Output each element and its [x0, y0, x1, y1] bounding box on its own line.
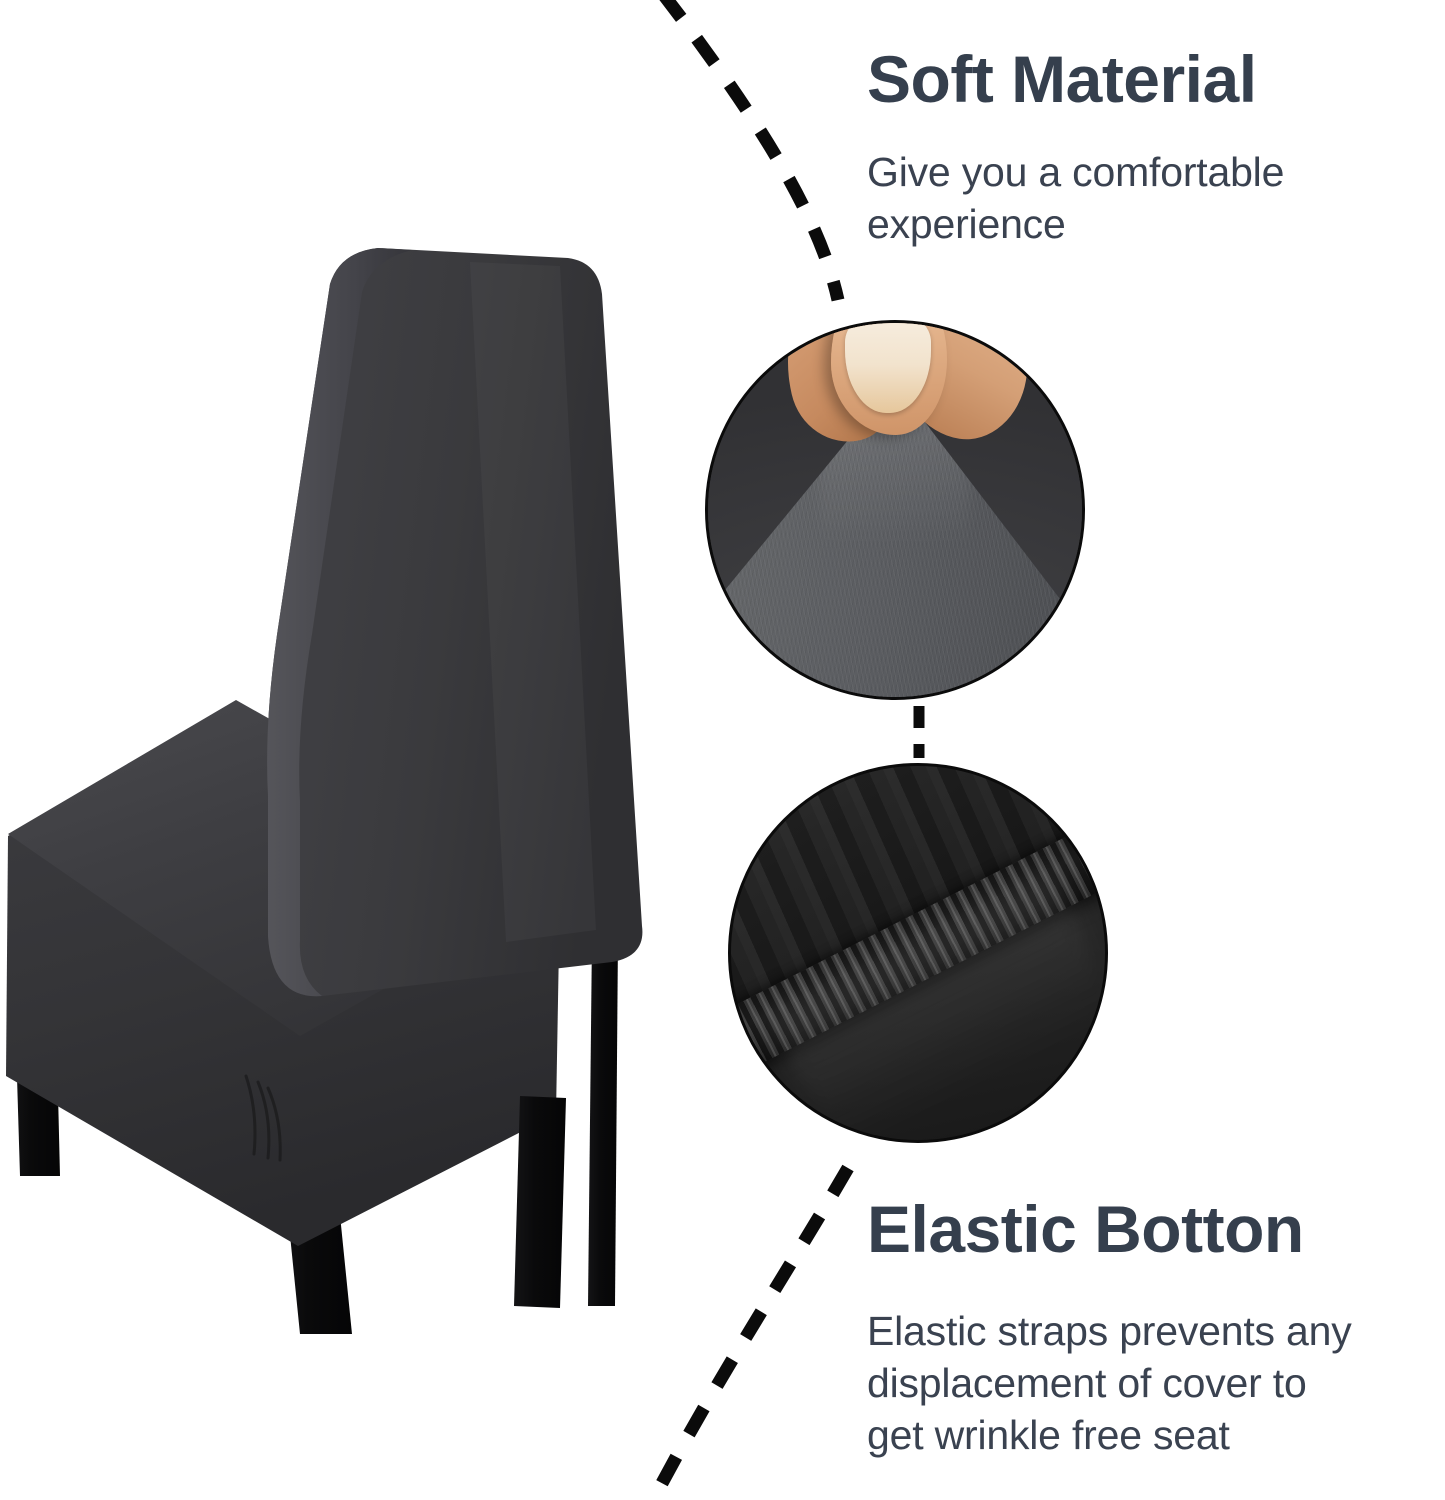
body-line: experience	[867, 198, 1284, 250]
feature-soft-material-body: Give you a comfortable experience	[867, 146, 1284, 250]
feature-elastic-bottom: Elastic Botton Elastic straps prevents a…	[867, 1196, 1352, 1461]
infographic-canvas: Soft Material Give you a comfortable exp…	[0, 0, 1445, 1500]
chair-leg-rear-right	[588, 936, 618, 1306]
body-line: displacement of cover to	[867, 1357, 1352, 1409]
body-line: Give you a comfortable	[867, 146, 1284, 198]
dashed-arc-upper	[663, 0, 838, 300]
elastic-hem-illustration	[731, 766, 1105, 1140]
feature-elastic-bottom-body: Elastic straps prevents any displacement…	[867, 1305, 1352, 1461]
dashed-arc-lower	[650, 1168, 848, 1500]
body-line: get wrinkle free seat	[867, 1409, 1352, 1461]
feature-soft-material-headline: Soft Material	[867, 46, 1284, 112]
callout-soft-material-photo	[705, 320, 1085, 700]
fabric-pinch-illustration	[708, 323, 1082, 697]
feature-elastic-bottom-headline: Elastic Botton	[867, 1196, 1352, 1262]
product-image-chair	[0, 236, 660, 1346]
chair-leg-front-right	[514, 1096, 566, 1308]
feature-soft-material: Soft Material Give you a comfortable exp…	[867, 46, 1284, 250]
body-line: Elastic straps prevents any	[867, 1305, 1352, 1357]
callout-elastic-bottom-photo	[728, 763, 1108, 1143]
